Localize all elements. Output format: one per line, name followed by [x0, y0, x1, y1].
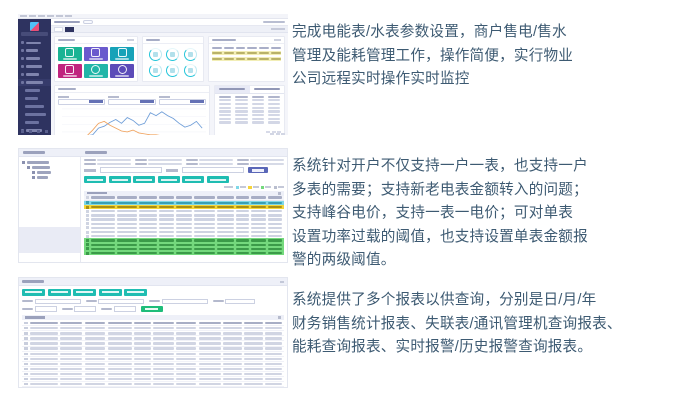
form-field[interactable]	[237, 163, 284, 165]
dashboard-sidebar[interactable]	[18, 19, 51, 135]
gauge-2	[164, 46, 181, 63]
report-table[interactable]	[22, 321, 284, 388]
search-bar[interactable]	[84, 167, 284, 173]
legend-item	[224, 186, 233, 188]
row-checkbox[interactable]	[86, 226, 89, 229]
tile-recharge[interactable]	[84, 47, 108, 61]
form-field[interactable]	[186, 159, 233, 161]
search-button[interactable]	[248, 167, 268, 173]
menu-icon	[21, 73, 24, 76]
filter-field-date-start[interactable]	[22, 306, 57, 311]
row-checkbox[interactable]	[86, 243, 89, 246]
action-monthly-report[interactable]	[48, 289, 71, 296]
ranking-table	[215, 94, 284, 132]
account-filter-form[interactable]	[84, 159, 284, 165]
form-field[interactable]	[84, 163, 131, 165]
gauge-ring-icon	[166, 64, 179, 77]
gauge-6	[182, 63, 199, 80]
sidebar-item-5[interactable]	[18, 71, 51, 78]
tile-alarm[interactable]	[84, 64, 108, 78]
tab-ranking-alarm[interactable]	[250, 86, 285, 94]
menu-icon	[21, 41, 24, 44]
footer-icon-3[interactable]	[37, 130, 40, 133]
filter-field-type[interactable]	[213, 299, 256, 304]
action-yearly-report[interactable]	[73, 289, 96, 296]
more-icon[interactable]	[274, 39, 281, 41]
slide-canvas: 完成电能表/水表参数设置，商户售电/售水 管理及能耗管理工作，操作简便，实行物业…	[0, 0, 697, 408]
panel-title	[143, 37, 203, 44]
tab-home[interactable]	[54, 27, 63, 32]
close-icon[interactable]	[280, 281, 284, 283]
report-action-bar[interactable]	[22, 289, 284, 296]
tile-label	[89, 58, 103, 60]
filter-select[interactable]	[159, 99, 206, 105]
dashboard-row-top	[51, 33, 288, 85]
row-checkbox[interactable]	[86, 222, 89, 225]
folder-icon	[22, 161, 25, 164]
tree-node-child-1[interactable]	[22, 166, 77, 169]
action-daily-report[interactable]	[22, 289, 45, 296]
query-button[interactable]	[141, 306, 163, 312]
report-icon	[118, 48, 127, 57]
action-set-threshold[interactable]	[158, 176, 180, 182]
row-checkbox[interactable]	[86, 247, 89, 250]
file-icon	[32, 171, 35, 174]
quick-entry-tiles[interactable]	[55, 44, 137, 81]
page-title	[54, 21, 80, 24]
filter-row	[22, 306, 284, 312]
form-field[interactable]	[84, 159, 131, 161]
table-row[interactable]	[219, 103, 280, 105]
screenshot-account-table[interactable]	[18, 148, 288, 263]
filter-group-1[interactable]	[58, 96, 105, 105]
sidebar-subitem-3[interactable]	[18, 103, 51, 110]
sidebar-item-4[interactable]	[18, 63, 51, 70]
tree-node-root[interactable]	[22, 161, 77, 164]
gauge-ring-icon	[184, 64, 197, 77]
row-checkbox[interactable]	[86, 214, 89, 217]
window-titlebar	[19, 278, 287, 286]
chart-icon	[65, 65, 74, 74]
panel-title	[55, 37, 137, 44]
table-caption	[22, 315, 284, 320]
gauge-ring-icon	[166, 48, 179, 61]
file-icon	[32, 176, 35, 179]
column-settings-icon[interactable]	[278, 192, 281, 195]
filter-group-2[interactable]	[108, 96, 155, 105]
sidebar-item-2[interactable]	[18, 47, 51, 54]
more-icon[interactable]	[127, 39, 134, 41]
panel-energy-trend	[54, 85, 210, 135]
platform-name-label	[21, 32, 48, 36]
action-button-bar[interactable]	[84, 176, 284, 182]
table-header	[212, 47, 281, 49]
gauge-4	[147, 63, 164, 80]
sidebar-subitem-2[interactable]	[18, 95, 51, 102]
form-field[interactable]	[186, 163, 233, 165]
filter-label	[159, 96, 170, 98]
sidebar-item-1[interactable]	[18, 39, 51, 46]
gauge-ring-icon	[149, 64, 162, 77]
folder-icon	[27, 166, 30, 169]
panel-title-right	[85, 151, 107, 154]
filter-group-3[interactable]	[159, 96, 206, 105]
tile-label	[115, 58, 129, 60]
legend-item-green	[261, 186, 271, 189]
tile-label	[63, 58, 77, 60]
table-row[interactable]	[219, 110, 280, 112]
tile-settings[interactable]	[110, 64, 134, 78]
status-legend	[84, 186, 284, 189]
tile-label	[115, 75, 129, 77]
device-status-gauges	[143, 44, 203, 81]
screenshot-report-table[interactable]	[18, 277, 288, 388]
gauge-1	[147, 46, 164, 63]
tile-meter-setup[interactable]	[58, 47, 82, 61]
action-export[interactable]	[207, 176, 229, 182]
table-header	[219, 96, 280, 98]
row-checkbox[interactable]	[86, 231, 89, 234]
header-badge	[83, 20, 93, 24]
footer-icon-1[interactable]	[21, 130, 24, 133]
table-row[interactable]	[219, 121, 280, 123]
filter-field-room[interactable]	[86, 299, 145, 304]
platform-logo-icon	[30, 22, 39, 31]
organization-tree[interactable]	[19, 157, 81, 263]
alarm-icon	[91, 65, 100, 74]
window-titlebar	[19, 149, 287, 157]
tab-overflow-icon[interactable]	[271, 28, 285, 30]
row-checkbox[interactable]	[86, 210, 89, 213]
chart-filter-bar[interactable]	[55, 93, 209, 106]
browser-tabs	[18, 14, 288, 18]
tile-label	[63, 75, 77, 77]
row-checkbox[interactable]	[86, 239, 89, 242]
tree-node-child-2[interactable]	[22, 171, 77, 174]
account-body	[19, 157, 287, 263]
filter-label	[108, 96, 119, 98]
action-export-excel[interactable]	[99, 289, 122, 296]
recharge-icon	[91, 48, 100, 57]
sidebar-subitem-1[interactable]	[18, 87, 51, 94]
tab-active[interactable]	[65, 27, 74, 32]
paragraph-1: 完成电能表/水表参数设置，商户售电/售水 管理及能耗管理工作，操作简便，实行物业…	[292, 21, 694, 92]
alarm-table	[209, 44, 284, 81]
menu-icon	[21, 57, 24, 60]
ranking-tabbar[interactable]	[215, 86, 284, 94]
select-all-checkbox[interactable]	[86, 196, 89, 199]
column-settings-icon[interactable]	[278, 316, 281, 319]
dashboard-tabbar[interactable]	[51, 26, 288, 33]
menu-icon	[21, 49, 24, 52]
sidebar-footer-icons[interactable]	[18, 128, 51, 134]
table-row[interactable]	[219, 118, 280, 120]
gauge-ring-icon	[149, 48, 162, 61]
table-row[interactable]	[84, 251, 284, 255]
search-icon	[252, 169, 264, 171]
panel-device-status	[142, 36, 204, 82]
energy-line-chart	[55, 106, 209, 135]
dashboard-header	[51, 19, 288, 26]
search-icon	[145, 308, 158, 310]
table-row[interactable]	[219, 99, 280, 101]
row-checkbox[interactable]	[86, 252, 89, 255]
filter-row	[22, 299, 284, 304]
row-checkbox[interactable]	[86, 206, 89, 209]
panel-quick-entry	[54, 36, 138, 82]
paragraph-3: 系统提供了多个报表以供查询，分别是日/月/年 财务销售统计报表、失联表/通讯管理…	[292, 289, 694, 360]
action-recharge[interactable]	[133, 176, 155, 182]
filter-field-keyword[interactable]	[101, 306, 136, 311]
form-field[interactable]	[135, 163, 182, 165]
tile-label	[89, 75, 103, 77]
form-row	[84, 163, 284, 165]
panel-title-left	[23, 151, 45, 154]
tree-node-child-3[interactable]	[22, 176, 77, 179]
panel-title	[209, 37, 284, 44]
report-filter-bar[interactable]	[22, 299, 284, 313]
sidebar-group-active[interactable]	[18, 79, 51, 86]
action-add-account[interactable]	[84, 176, 106, 182]
tree-footer-area	[19, 227, 80, 253]
paragraph-2: 系统针对开户不仅支持一户一表，也支持一户 多表的需要；支持新老电表金额转入的问题…	[292, 155, 694, 273]
screenshot-dashboard[interactable]	[18, 14, 288, 135]
form-field[interactable]	[237, 159, 284, 161]
table-row[interactable]	[219, 114, 280, 116]
report-body	[19, 286, 287, 388]
filter-select[interactable]	[58, 99, 105, 105]
report-page-title	[22, 280, 44, 283]
meter-icon	[65, 48, 74, 57]
panel-title	[55, 86, 209, 93]
gear-icon	[118, 65, 127, 74]
user-account-label[interactable]	[263, 21, 285, 23]
sidebar-item-3[interactable]	[18, 55, 51, 62]
account-table[interactable]	[84, 196, 284, 261]
filter-field-meter[interactable]	[149, 299, 208, 304]
form-field[interactable]	[135, 159, 182, 161]
row-checkbox[interactable]	[86, 218, 89, 221]
menu-icon	[21, 65, 24, 68]
table-row[interactable]	[212, 57, 281, 61]
search-input[interactable]	[100, 167, 162, 173]
search-label-2	[166, 169, 178, 171]
footer-icon-4[interactable]	[45, 130, 48, 133]
filter-label	[58, 96, 69, 98]
menu-icon	[21, 81, 24, 84]
gauge-3	[182, 46, 199, 63]
footer-status	[270, 133, 285, 135]
tile-statistics[interactable]	[58, 64, 82, 78]
form-row	[84, 159, 284, 161]
sidebar-menu[interactable]	[18, 39, 51, 135]
table-row[interactable]	[22, 387, 284, 388]
gauge-ring-icon	[184, 48, 197, 61]
table-row[interactable]	[212, 51, 281, 55]
panel-ranking	[214, 85, 285, 135]
tab-ranking-energy[interactable]	[215, 86, 250, 94]
dashboard-row-bottom	[51, 85, 288, 135]
row-checkbox[interactable]	[86, 201, 89, 204]
legend-item-gray	[274, 186, 284, 189]
action-print[interactable]	[124, 289, 147, 296]
tile-report[interactable]	[110, 47, 134, 61]
search-label	[84, 169, 96, 171]
gauge-5	[164, 63, 181, 80]
legend-item-cyan	[236, 186, 246, 189]
filter-field-date-end[interactable]	[62, 306, 97, 311]
footer-icon-2[interactable]	[29, 130, 32, 133]
action-transfer-balance[interactable]	[182, 176, 204, 182]
row-checkbox[interactable]	[86, 235, 89, 238]
chart-svg	[62, 107, 206, 135]
dashboard-main	[51, 19, 288, 135]
search-input-2[interactable]	[182, 167, 244, 173]
table-row[interactable]	[219, 107, 280, 109]
sidebar-subitem-5[interactable]	[18, 119, 51, 126]
filter-select[interactable]	[108, 99, 155, 105]
account-content	[81, 157, 287, 263]
sidebar-subitem-4[interactable]	[18, 111, 51, 118]
legend-item-yellow	[248, 186, 258, 189]
action-edit[interactable]	[109, 176, 131, 182]
panel-alarm-list	[208, 36, 285, 82]
filter-field-building[interactable]	[22, 299, 81, 304]
